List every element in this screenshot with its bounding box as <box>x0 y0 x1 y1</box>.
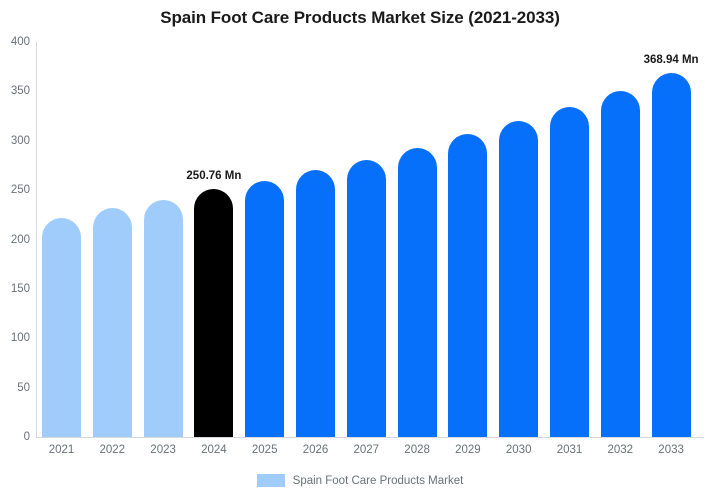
bar-2032[interactable] <box>601 91 640 437</box>
x-axis-tick-label-2032: 2032 <box>608 444 634 456</box>
x-axis-tick-label-2022: 2022 <box>100 444 126 456</box>
x-axis-tick-label-2021: 2021 <box>49 444 75 456</box>
x-axis-tick-label-2025: 2025 <box>252 444 278 456</box>
chart-container: Spain Foot Care Products Market Size (20… <box>0 0 720 500</box>
bar-value-label-2033: 368.94 Mn <box>644 54 699 66</box>
x-axis-tick-label-2029: 2029 <box>455 444 481 456</box>
bar-2031[interactable] <box>550 107 589 437</box>
legend-item-label: Spain Foot Care Products Market <box>293 475 464 487</box>
x-axis-tick-label-2027: 2027 <box>354 444 380 456</box>
bar-2022[interactable] <box>93 208 132 437</box>
x-axis-tick-label-2030: 2030 <box>506 444 532 456</box>
bar-2025[interactable] <box>245 181 284 437</box>
x-axis-tick-label-2031: 2031 <box>557 444 583 456</box>
x-axis-tick-label-2026: 2026 <box>303 444 329 456</box>
bar-2028[interactable] <box>398 148 437 437</box>
x-axis-tick-label-2024: 2024 <box>201 444 227 456</box>
bar-value-label-2024: 250.76 Mn <box>186 170 241 182</box>
bar-2026[interactable] <box>296 170 335 437</box>
x-axis-tick-label-2033: 2033 <box>658 444 684 456</box>
bar-2029[interactable] <box>448 134 487 437</box>
bar-2027[interactable] <box>347 160 386 437</box>
chart-legend: Spain Foot Care Products Market <box>0 474 720 487</box>
bar-2024[interactable] <box>194 189 233 437</box>
bar-2030[interactable] <box>499 121 538 437</box>
bars-layer: 202120222023250.76 Mn2024202520262027202… <box>0 0 720 500</box>
bar-2023[interactable] <box>144 200 183 437</box>
legend-swatch-icon <box>257 474 285 487</box>
bar-2021[interactable] <box>42 218 81 437</box>
x-axis-tick-label-2023: 2023 <box>150 444 176 456</box>
bar-2033[interactable] <box>652 73 691 437</box>
x-axis-tick-label-2028: 2028 <box>404 444 430 456</box>
